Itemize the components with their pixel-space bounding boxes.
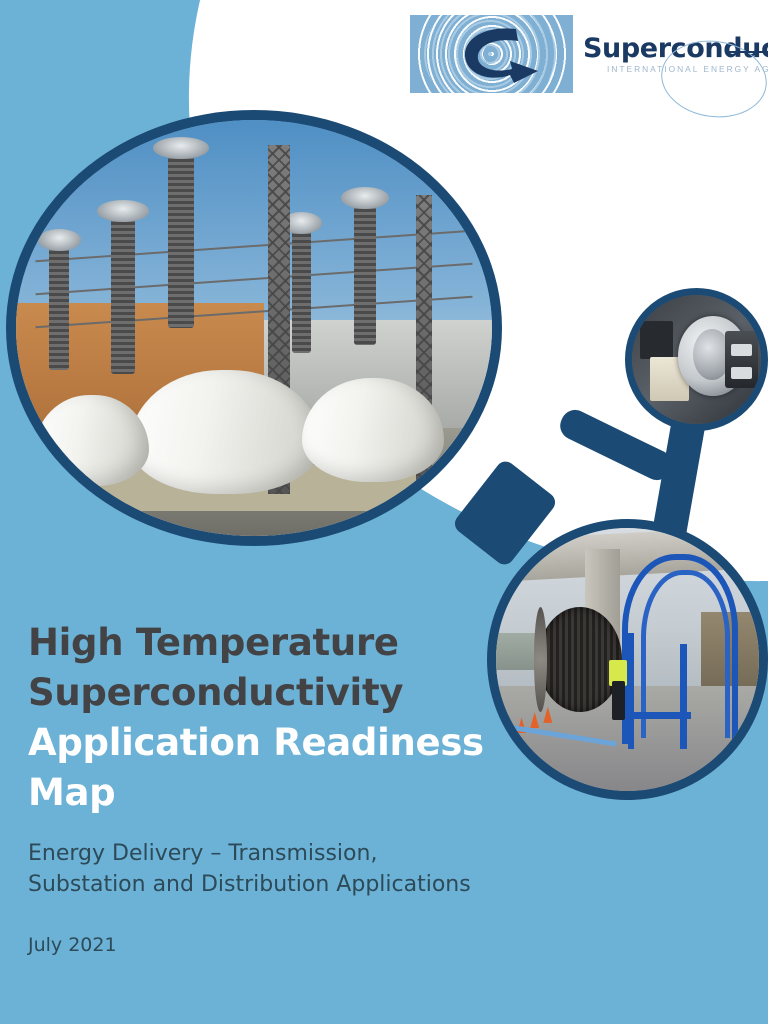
organisation-logo: Superconductivity INTERNATIONAL ENERGY A… [410, 14, 750, 94]
curved-arrow-icon [454, 27, 546, 85]
page-title-line-4: Map [28, 768, 528, 818]
document-cover-page: Superconductivity INTERNATIONAL ENERGY A… [0, 0, 768, 1024]
page-title-line-3: Application Readiness [28, 718, 528, 768]
leader-line-icon [726, 51, 768, 53]
page-title-line-1: High Temperature [28, 618, 528, 668]
cover-title-block: High Temperature Superconductivity Appli… [28, 618, 528, 956]
page-title-line-2: Superconductivity [28, 668, 528, 718]
cover-subtitle-line-2: Substation and Distribution Applications [28, 869, 528, 900]
logo-wordmark: Superconductivity INTERNATIONAL ENERGY A… [583, 35, 768, 74]
publication-date: July 2021 [28, 934, 528, 956]
cover-subtitle-line-1: Energy Delivery – Transmission, [28, 838, 528, 869]
logo-mark-icon [410, 15, 573, 93]
cover-subtitle: Energy Delivery – Transmission, Substati… [28, 838, 528, 900]
